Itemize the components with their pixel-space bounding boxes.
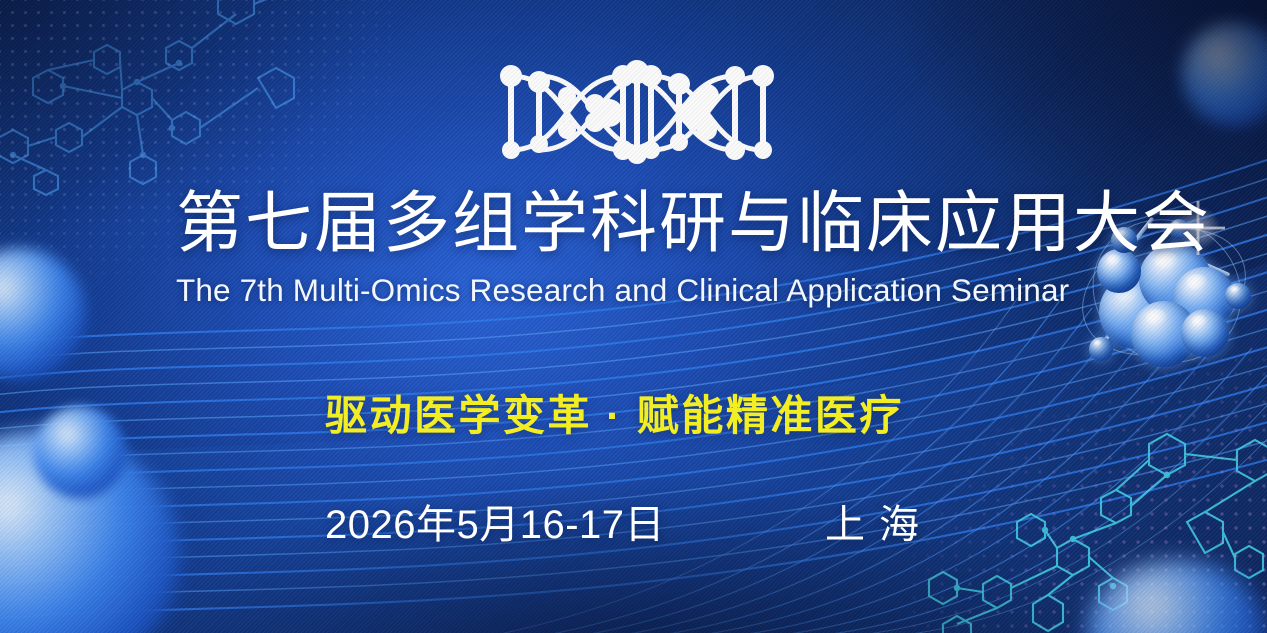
banner-text-layer: 第七届多组学科研与临床应用大会 The 7th Multi-Omics Rese…: [0, 0, 1267, 633]
event-city: 上海: [825, 492, 933, 550]
event-date: 2026年5月16-17日: [325, 492, 665, 550]
page-title-cn: 第七届多组学科研与临床应用大会: [176, 188, 1096, 260]
tagline: 驱动医学变革 · 赋能精准医疗: [325, 382, 904, 443]
conference-banner: 第七届多组学科研与临床应用大会 The 7th Multi-Omics Rese…: [0, 0, 1267, 633]
page-subtitle-en: The 7th Multi-Omics Research and Clinica…: [176, 272, 1106, 309]
event-meta-row: 2026年5月16-17日 上海: [325, 492, 965, 550]
